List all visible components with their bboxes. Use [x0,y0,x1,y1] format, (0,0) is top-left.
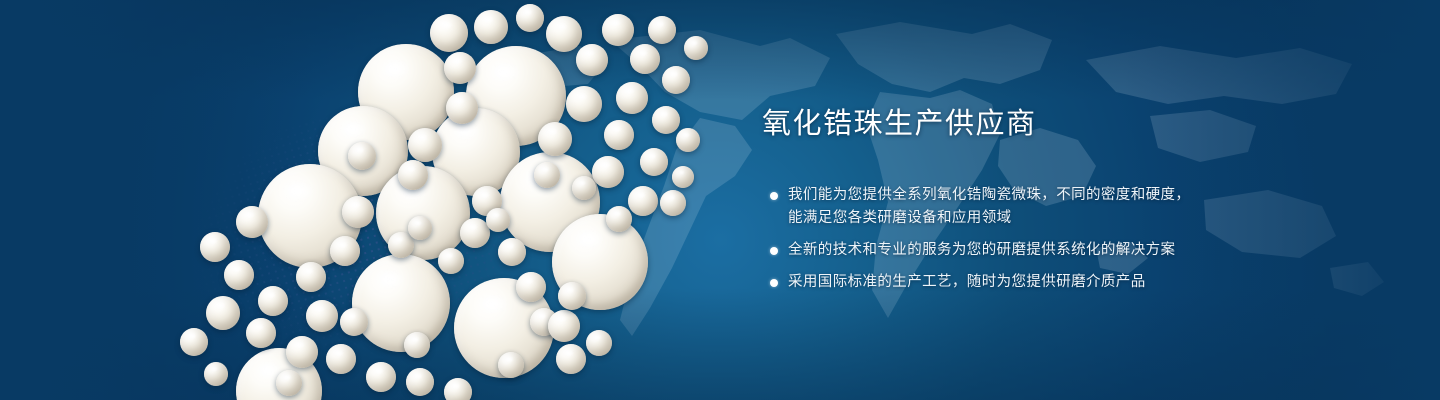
bead [538,122,572,156]
bullet-dot-icon [770,247,778,255]
zirconia-beads-photo [0,0,760,400]
page-title: 氧化锆珠生产供应商 [762,104,1232,144]
bead [352,254,450,352]
bead [516,272,546,302]
bead [576,44,608,76]
bead [660,190,686,216]
bead [206,296,240,330]
bead [296,262,326,292]
bead [446,92,478,124]
bead [408,128,442,162]
bead [566,86,602,122]
bead [616,82,648,114]
bead [438,248,464,274]
bead [684,36,708,60]
bead [200,232,230,262]
bead [640,148,668,176]
bead [486,208,510,232]
bead [606,206,632,232]
list-item-line1: 全新的技术和专业的服务为您的研磨提供系统化的解决方案 [788,242,1175,258]
bead [592,156,624,188]
bead [444,378,472,400]
bead [366,362,396,392]
bead [672,166,694,188]
bead [406,368,434,396]
bead [348,142,376,170]
bead [430,14,468,52]
hero-banner: 氧化锆珠生产供应商 我们能为您提供全系列氧化锆陶瓷微珠，不同的密度和硬度， 能满… [0,0,1440,400]
bead [398,160,428,190]
bead [224,260,254,290]
bead [604,120,634,150]
bead [628,186,658,216]
list-item: 我们能为您提供全系列氧化锆陶瓷微珠，不同的密度和硬度， 能满足您各类研磨设备和应… [762,184,1232,230]
list-item-line1: 采用国际标准的生产工艺，随时为您提供研磨介质产品 [788,274,1146,290]
feature-list: 我们能为您提供全系列氧化锆陶瓷微珠，不同的密度和硬度， 能满足您各类研磨设备和应… [762,184,1232,294]
banner-copy: 氧化锆珠生产供应商 我们能为您提供全系列氧化锆陶瓷微珠，不同的密度和硬度， 能满… [762,104,1232,303]
bead [326,344,356,374]
bead [246,318,276,348]
list-item-line2: 能满足您各类研磨设备和应用领域 [788,207,1232,230]
bead [180,328,208,356]
bead [652,106,680,134]
bead [276,370,302,396]
bead [404,332,430,358]
bead [236,206,268,238]
bead [474,10,508,44]
bullet-dot-icon [770,279,778,287]
bead [498,238,526,266]
list-item-line1: 我们能为您提供全系列氧化锆陶瓷微珠，不同的密度和硬度， [788,187,1190,203]
bead [572,176,596,200]
bead [204,362,228,386]
bead [676,128,700,152]
bead [556,344,586,374]
bead [408,216,432,240]
bead [602,14,634,46]
bead [648,16,676,44]
bead [546,16,582,52]
bead [444,52,476,84]
bead [586,330,612,356]
bead [306,300,338,332]
bead [630,44,660,74]
list-item: 采用国际标准的生产工艺，随时为您提供研磨介质产品 [762,271,1232,294]
bead [498,352,524,378]
bead [342,196,374,228]
list-item: 全新的技术和专业的服务为您的研磨提供系统化的解决方案 [762,239,1232,262]
bead [548,310,580,342]
bead [258,286,288,316]
bead [340,308,368,336]
bead [662,66,690,94]
bead [516,4,544,32]
bullet-dot-icon [770,192,778,200]
bead [330,236,360,266]
bead [534,162,560,188]
bead [286,336,318,368]
bead [558,282,586,310]
